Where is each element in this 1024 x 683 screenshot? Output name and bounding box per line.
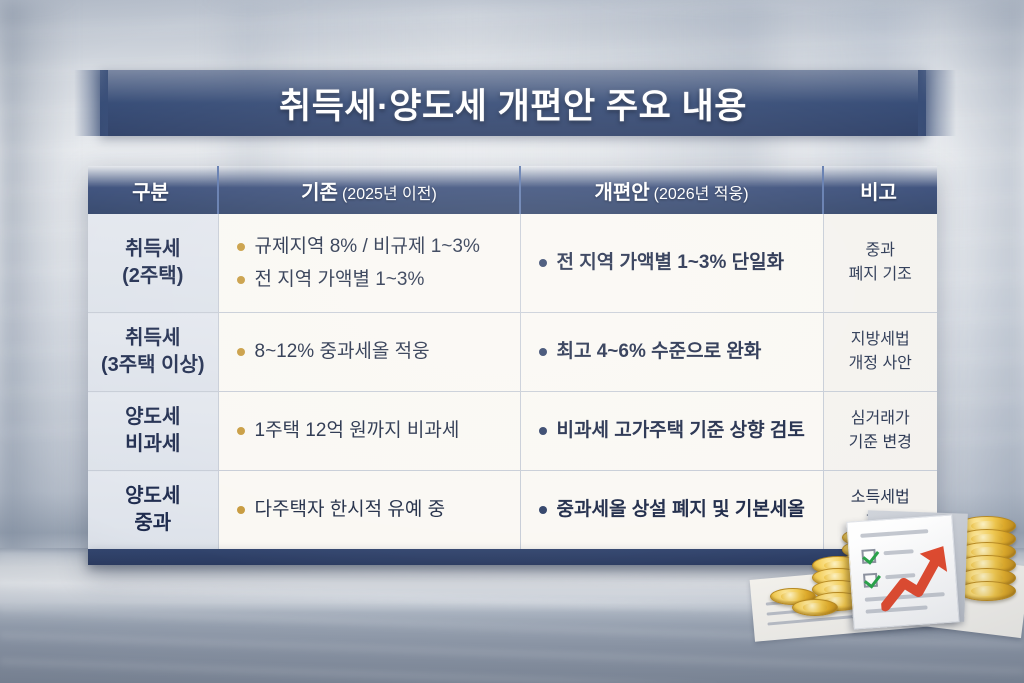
growth-arrow-icon bbox=[877, 539, 958, 614]
coin-icon bbox=[958, 581, 1016, 601]
coins-checklist-illustration bbox=[746, 498, 1024, 648]
reform-list: 전 지역 가액별 1~3% 단일화 bbox=[539, 249, 809, 277]
list-item: 규제지역 8% / 비규제 1~3% bbox=[237, 233, 506, 261]
table-header-row: 구분 기존(2025년 이전) 개편안(2026년 적웅) 비고 bbox=[88, 166, 937, 214]
header-main: 개편안 bbox=[594, 182, 649, 204]
note-line1: 중과 bbox=[866, 242, 895, 259]
note-line1: 심거래가 bbox=[851, 410, 910, 427]
note-line1: 지방세법 bbox=[851, 331, 910, 348]
existing-list: 8~12% 중과세올 적웅 bbox=[237, 338, 506, 366]
checkmark-icon bbox=[861, 549, 876, 564]
cell-note: 중과 폐지 기조 bbox=[823, 214, 937, 313]
table-row: 취득세 (2주택) 규제지역 8% / 비규제 1~3% 전 지역 가액별 1~… bbox=[88, 214, 937, 313]
note-line2: 폐지 기조 bbox=[830, 263, 932, 287]
comparison-table: 구분 기존(2025년 이전) 개편안(2026년 적웅) 비고 bbox=[88, 166, 937, 549]
title-banner: 취득세·양도세 개편안 주요 내용 bbox=[100, 70, 926, 136]
category-line1: 양도세 bbox=[125, 485, 180, 507]
checklist-document-icon bbox=[846, 514, 959, 629]
list-item: 전 지역 가액별 1~3% 단일화 bbox=[539, 249, 809, 277]
category-line2: (3주택 이상) bbox=[92, 352, 214, 379]
cell-category: 취득세 (3주택 이상) bbox=[88, 313, 218, 392]
reform-list: 최고 4~6% 수준으로 완화 bbox=[539, 338, 809, 366]
infographic-canvas: 취득세·양도세 개편안 주요 내용 구분 기존(2025년 이전) 개편안(20… bbox=[0, 0, 1024, 683]
header-main: 기존 bbox=[301, 182, 338, 204]
category-line2: (2주택) bbox=[92, 263, 214, 290]
cell-reform: 비과세 고가주택 기준 상향 검토 bbox=[520, 392, 823, 471]
existing-list: 규제지역 8% / 비규제 1~3% 전 지역 가액별 1~3% bbox=[237, 233, 506, 293]
cell-existing: 1주택 12억 원까지 비과세 bbox=[218, 392, 520, 471]
note-line2: 개정 사안 bbox=[830, 352, 932, 376]
coin-icon bbox=[792, 599, 838, 616]
cell-note: 지방세법 개정 사안 bbox=[823, 313, 937, 392]
column-header-note: 비고 bbox=[823, 166, 937, 214]
category-line2: 중과 bbox=[92, 510, 214, 537]
cell-existing: 다주택자 한시적 유예 중 bbox=[218, 471, 520, 550]
column-header-existing: 기존(2025년 이전) bbox=[218, 166, 520, 214]
note-line2: 기준 변경 bbox=[830, 431, 932, 455]
category-line1: 양도세 bbox=[125, 406, 180, 428]
cell-reform: 전 지역 가액별 1~3% 단일화 bbox=[520, 214, 823, 313]
header-sub: (2025년 이전) bbox=[342, 186, 437, 203]
header-main: 구분 bbox=[132, 182, 169, 204]
table-row: 취득세 (3주택 이상) 8~12% 중과세올 적웅 최고 4~6% 수준으로 … bbox=[88, 313, 937, 392]
column-header-category: 구분 bbox=[88, 166, 218, 214]
table-row: 양도세 비과세 1주택 12억 원까지 비과세 비과세 고가주택 기준 상향 검… bbox=[88, 392, 937, 471]
list-item: 다주택자 한시적 유예 중 bbox=[237, 496, 506, 524]
cell-category: 취득세 (2주택) bbox=[88, 214, 218, 313]
category-line1: 취득세 bbox=[125, 238, 180, 260]
list-item: 전 지역 가액별 1~3% bbox=[237, 266, 506, 294]
category-line2: 비과세 bbox=[92, 431, 214, 458]
checkmark-icon bbox=[863, 573, 878, 588]
cell-reform: 최고 4~6% 수준으로 완화 bbox=[520, 313, 823, 392]
list-item: 최고 4~6% 수준으로 완화 bbox=[539, 338, 809, 366]
cell-existing: 규제지역 8% / 비규제 1~3% 전 지역 가액별 1~3% bbox=[218, 214, 520, 313]
existing-list: 다주택자 한시적 유예 중 bbox=[237, 496, 506, 524]
list-item: 1주택 12억 원까지 비과세 bbox=[237, 417, 506, 445]
list-item: 8~12% 중과세올 적웅 bbox=[237, 338, 506, 366]
category-line1: 취득세 bbox=[125, 327, 180, 349]
list-item: 비과세 고가주택 기준 상향 검토 bbox=[539, 417, 809, 445]
existing-list: 1주택 12억 원까지 비과세 bbox=[237, 417, 506, 445]
header-main: 비고 bbox=[860, 182, 897, 204]
page-title: 취득세·양도세 개편안 주요 내용 bbox=[100, 70, 926, 136]
cell-category: 양도세 중과 bbox=[88, 471, 218, 550]
cell-note: 심거래가 기준 변경 bbox=[823, 392, 937, 471]
reform-list: 비과세 고가주택 기준 상향 검토 bbox=[539, 417, 809, 445]
cell-category: 양도세 비과세 bbox=[88, 392, 218, 471]
cell-existing: 8~12% 중과세올 적웅 bbox=[218, 313, 520, 392]
column-header-reform: 개편안(2026년 적웅) bbox=[520, 166, 823, 214]
header-sub: (2026년 적웅) bbox=[654, 186, 749, 203]
